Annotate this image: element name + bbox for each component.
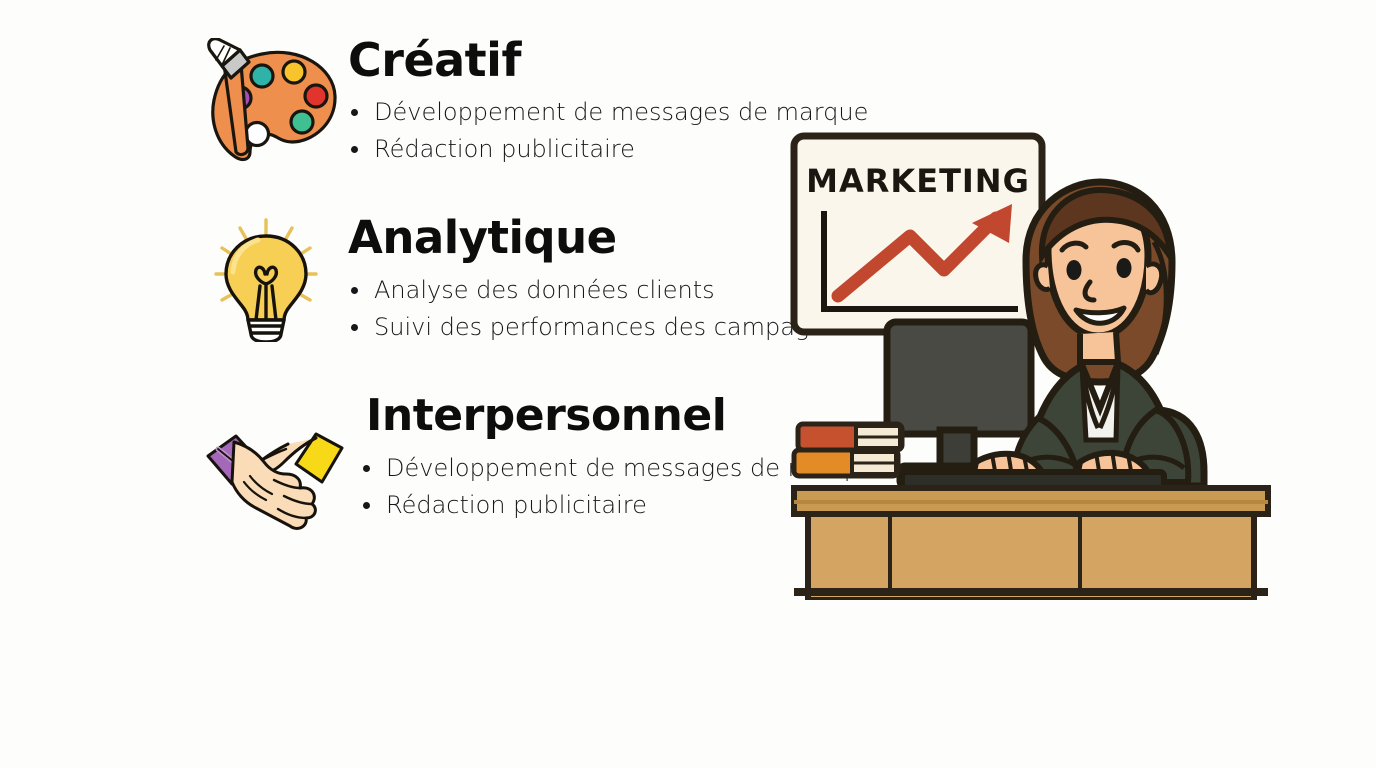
lightbulb-icon <box>200 212 350 342</box>
eye-left <box>1067 260 1082 280</box>
skills-column: Créatif Développement de messages de mar… <box>0 0 810 600</box>
skill-body-creatif: Créatif Développement de messages de mar… <box>348 34 808 168</box>
skill-body-analytique: Analytique Analyse des données clients S… <box>348 212 808 346</box>
bullet-dot-icon <box>363 465 370 472</box>
skill-title-analytique: Analytique <box>348 212 808 264</box>
paint-palette-icon <box>200 38 350 168</box>
list-item: Développement de messages de marque <box>360 450 826 487</box>
list-item: Suivi des performances des campagnes <box>348 309 808 346</box>
skill-body-interpersonnel: Interpersonnel Développement de messages… <box>366 390 826 524</box>
list-item: Analyse des données clients <box>348 272 808 309</box>
whiteboard-label: MARKETING <box>806 162 1030 200</box>
eye-right <box>1117 258 1132 278</box>
bullet-text: Rédaction publicitaire <box>386 491 647 519</box>
bullet-dot-icon <box>351 287 358 294</box>
bullet-dot-icon <box>363 502 370 509</box>
bullet-text: Rédaction publicitaire <box>374 135 635 163</box>
skill-title-creatif: Créatif <box>348 34 808 86</box>
marketing-professional-at-desk-illustration: MARKETING <box>780 110 1280 600</box>
list-item: Rédaction publicitaire <box>360 487 826 524</box>
skill-bullets-creatif: Développement de messages de marque Réda… <box>348 94 808 168</box>
list-item: Développement de messages de marque <box>348 94 808 131</box>
skill-bullets-analytique: Analyse des données clients Suivi des pe… <box>348 272 808 346</box>
skill-bullets-interpersonnel: Développement de messages de marque Réda… <box>360 450 826 524</box>
handshake-icon <box>200 412 350 542</box>
skill-title-interpersonnel: Interpersonnel <box>366 390 826 442</box>
bullet-text: Analyse des données clients <box>374 276 715 304</box>
slide-canvas: Créatif Développement de messages de mar… <box>0 0 1376 768</box>
list-item: Rédaction publicitaire <box>348 131 808 168</box>
whiteboard-group: MARKETING <box>794 136 1042 332</box>
bullet-dot-icon <box>351 146 358 153</box>
desk-group <box>794 488 1268 600</box>
bullet-dot-icon <box>351 324 358 331</box>
bullet-dot-icon <box>351 109 358 116</box>
book-stack <box>794 424 902 476</box>
